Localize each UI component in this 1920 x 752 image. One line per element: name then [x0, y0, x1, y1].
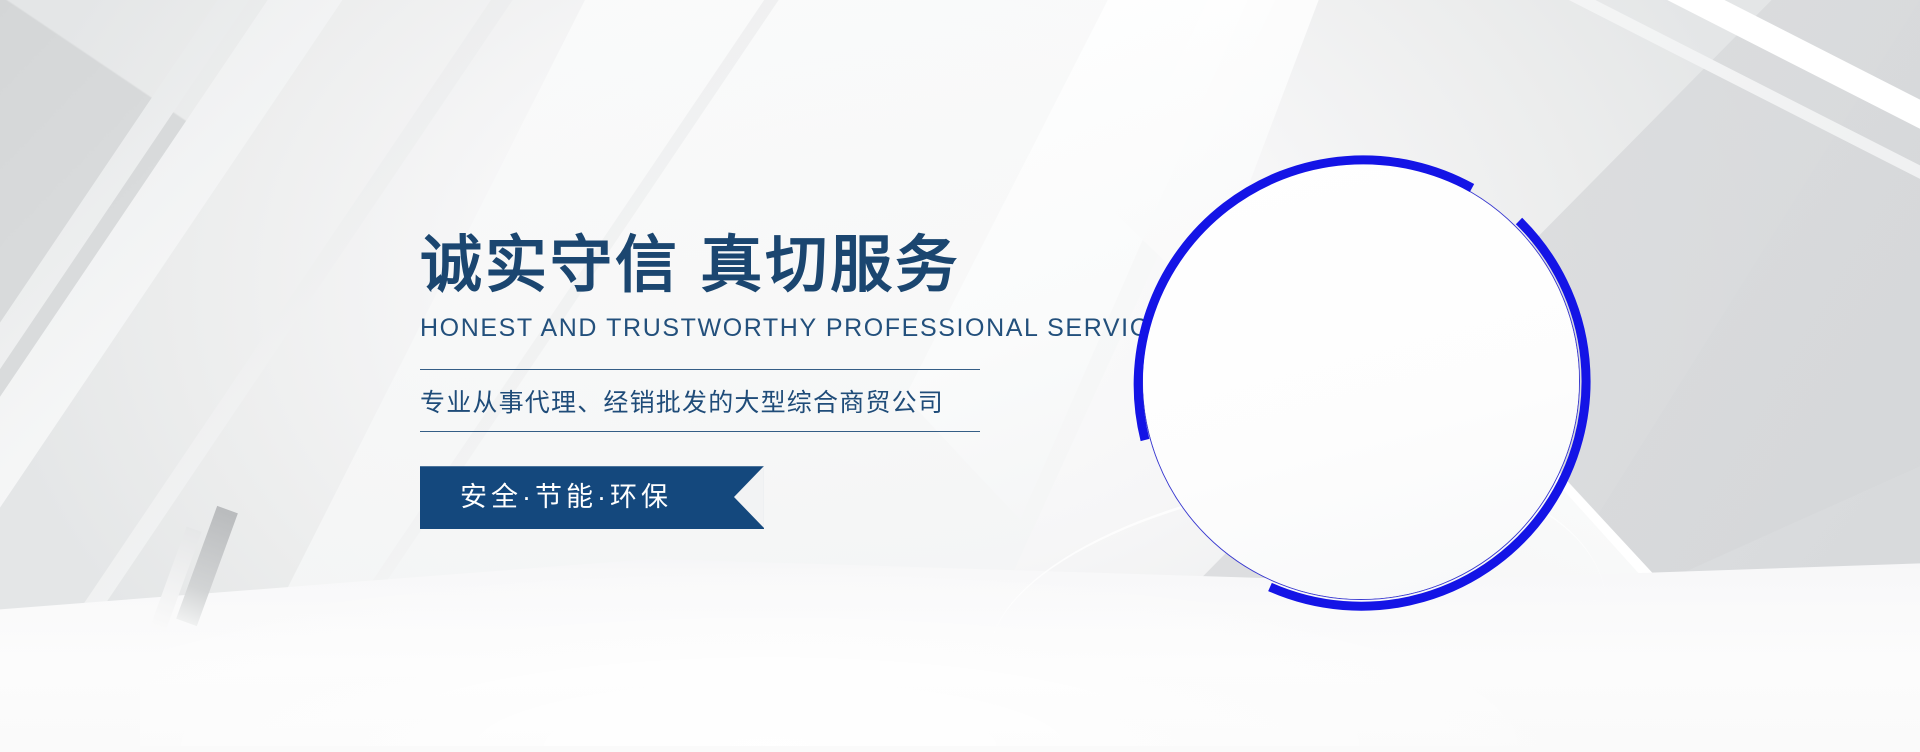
- ribbon-notch-shape: [718, 466, 764, 529]
- ribbon-wrapper: 安全·节能·环保: [420, 466, 1060, 529]
- divider-bottom: [420, 431, 980, 432]
- hero-banner: 诚实守信 真切服务 HONEST AND TRUSTWORTHY PROFESS…: [0, 0, 1920, 752]
- page-title: 诚实守信 真切服务: [420, 232, 1060, 300]
- tagline-ribbon-label: 安全·节能·环保: [460, 482, 672, 512]
- subtitle-english: HONEST AND TRUSTWORTHY PROFESSIONAL SERV…: [420, 314, 1060, 343]
- hero-text-block: 诚实守信 真切服务 HONEST AND TRUSTWORTHY PROFESS…: [420, 232, 1060, 529]
- divider-top: [420, 369, 980, 370]
- tagline-ribbon: 安全·节能·环保: [420, 466, 764, 529]
- subtitle-chinese: 专业从事代理、经销批发的大型综合商贸公司: [420, 370, 1060, 431]
- product-circle-graphic: [1120, 140, 1600, 620]
- blue-ring-decoration: [1120, 140, 1600, 620]
